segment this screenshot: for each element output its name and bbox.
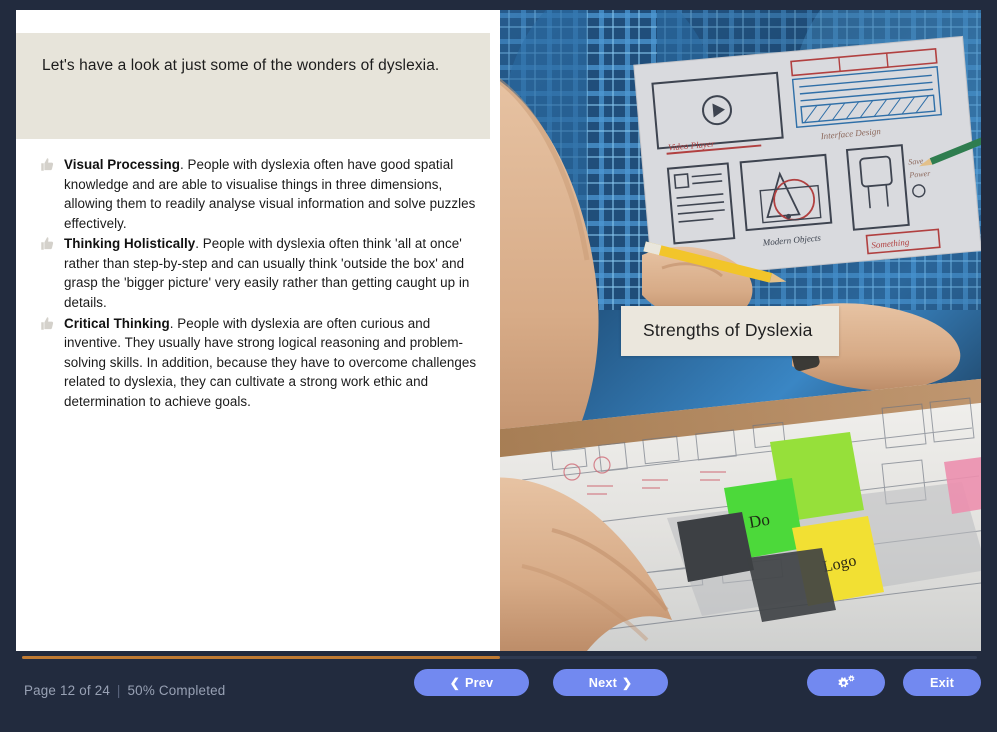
exit-button-label: Exit xyxy=(930,676,954,690)
list-item: Visual Processing. People with dyslexia … xyxy=(38,155,490,233)
chevron-right-icon: ❯ xyxy=(622,677,632,689)
course-slide-viewer: Let's have a look at just some of the wo… xyxy=(0,0,997,732)
course-progress-fill xyxy=(22,656,500,659)
prev-button-label: Prev xyxy=(465,676,493,690)
thumbs-up-icon xyxy=(40,157,55,172)
slide-photo-column: Video Player Interface Design xyxy=(500,10,981,651)
list-item-title: Thinking Holistically xyxy=(64,236,195,251)
slide-callout-text: Let's have a look at just some of the wo… xyxy=(42,55,464,77)
svg-text:Do: Do xyxy=(747,510,771,532)
next-button-label: Next xyxy=(589,676,617,690)
page-number-label: Page 12 of 24 xyxy=(24,683,110,698)
next-button[interactable]: Next ❯ xyxy=(553,669,668,696)
slide-stage: Let's have a look at just some of the wo… xyxy=(16,10,981,651)
page-status: Page 12 of 24 | 50% Completed xyxy=(24,683,225,698)
slide-callout-box: Let's have a look at just some of the wo… xyxy=(16,33,490,139)
list-item: Thinking Holistically. People with dysle… xyxy=(38,234,490,312)
list-item-title: Critical Thinking xyxy=(64,316,170,331)
prev-button[interactable]: ❮ Prev xyxy=(414,669,529,696)
player-bottom-bar: Page 12 of 24 | 50% Completed ❮ Prev Nex… xyxy=(0,665,997,732)
thumbs-up-icon xyxy=(40,316,55,331)
completion-label: 50% Completed xyxy=(128,683,226,698)
navigation-button-group: ❮ Prev Next ❯ xyxy=(414,669,668,696)
list-item-title: Visual Processing xyxy=(64,157,180,172)
exit-button[interactable]: Exit xyxy=(903,669,981,696)
strengths-list: Visual Processing. People with dyslexia … xyxy=(38,155,490,411)
thumbs-up-icon xyxy=(40,236,55,251)
list-item: Critical Thinking. People with dyslexia … xyxy=(38,314,490,412)
settings-button[interactable] xyxy=(807,669,885,696)
chevron-left-icon: ❮ xyxy=(450,677,460,689)
image-caption-label: Strengths of Dyslexia xyxy=(621,306,839,356)
settings-gears-icon xyxy=(836,675,856,691)
course-progress-track xyxy=(22,656,977,659)
slide-text-column: Let's have a look at just some of the wo… xyxy=(16,10,500,651)
utility-button-group: Exit xyxy=(807,669,981,696)
status-separator: | xyxy=(117,683,121,698)
